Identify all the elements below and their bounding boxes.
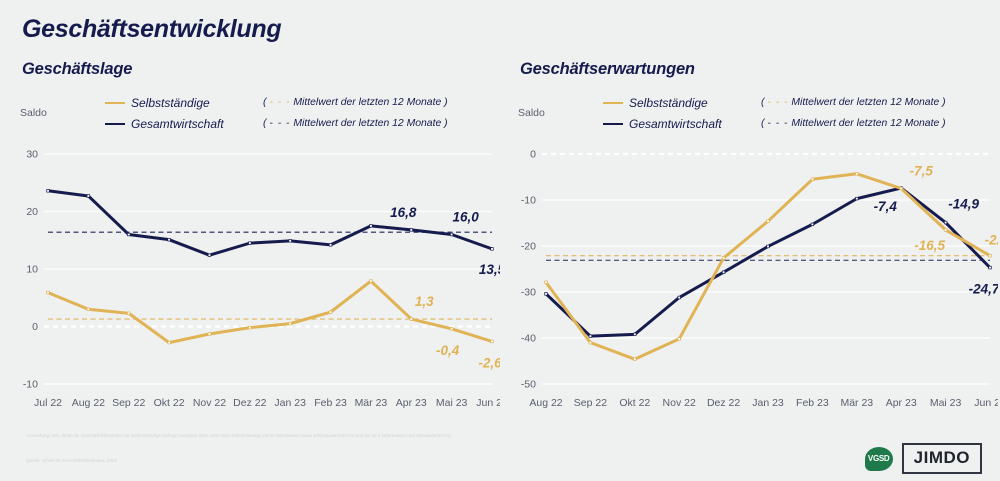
svg-text:-10: -10 (23, 379, 38, 391)
svg-text:-10: -10 (521, 195, 536, 207)
svg-text:Aug 22: Aug 22 (529, 397, 562, 409)
svg-text:Okt 22: Okt 22 (154, 397, 185, 409)
svg-text:-30: -30 (521, 287, 536, 299)
svg-text:Mai 23: Mai 23 (436, 397, 468, 409)
chart-panel-geschaeftserwartungen: Geschäftserwartungen Saldo Selbstständig… (498, 52, 998, 417)
svg-text:16,8: 16,8 (390, 205, 417, 220)
footnote-text: Anmerkung: Der Jimdo-ifo Geschäftsklimai… (26, 432, 546, 439)
svg-text:Dez 22: Dez 22 (707, 397, 740, 409)
svg-text:Jun 23: Jun 23 (974, 397, 998, 409)
svg-text:-14,9: -14,9 (948, 197, 979, 212)
svg-text:16,0: 16,0 (452, 210, 479, 225)
svg-text:Apr 23: Apr 23 (886, 397, 917, 409)
svg-text:Feb 23: Feb 23 (314, 397, 347, 409)
source-text: Quelle: Jimdo-ifo Geschäftsklimaindex, 2… (26, 458, 117, 463)
svg-text:Mär 23: Mär 23 (840, 397, 873, 409)
svg-text:Nov 22: Nov 22 (193, 397, 226, 409)
svg-text:Sep 22: Sep 22 (574, 397, 607, 409)
svg-text:-22,1: -22,1 (985, 233, 998, 248)
chart-panel-geschaeftslage: Geschäftslage Saldo Selbstständige ( - -… (0, 52, 500, 417)
svg-text:-2,6: -2,6 (478, 355, 500, 370)
svg-text:-50: -50 (521, 379, 536, 391)
svg-text:Sep 22: Sep 22 (112, 397, 145, 409)
svg-text:0: 0 (530, 149, 536, 161)
svg-text:-40: -40 (521, 333, 536, 345)
svg-text:0: 0 (32, 321, 38, 333)
svg-text:Mai 23: Mai 23 (930, 397, 962, 409)
svg-text:Jun 23: Jun 23 (476, 397, 500, 409)
vgsd-logo-icon: VGSD (865, 447, 893, 471)
svg-text:-7,5: -7,5 (910, 164, 934, 179)
svg-text:Jul 22: Jul 22 (34, 397, 62, 409)
svg-text:30: 30 (26, 149, 38, 161)
svg-text:20: 20 (26, 206, 38, 218)
svg-text:1,3: 1,3 (415, 294, 434, 309)
svg-text:-16,5: -16,5 (914, 238, 945, 253)
svg-text:Nov 22: Nov 22 (663, 397, 696, 409)
svg-text:13,5: 13,5 (479, 262, 500, 277)
jimdo-logo: JIMDO (902, 443, 982, 474)
svg-text:-20: -20 (521, 241, 536, 253)
svg-text:Mär 23: Mär 23 (355, 397, 388, 409)
svg-text:Feb 23: Feb 23 (796, 397, 829, 409)
svg-text:-7,4: -7,4 (874, 199, 898, 214)
svg-text:10: 10 (26, 264, 38, 276)
svg-text:Apr 23: Apr 23 (396, 397, 427, 409)
svg-text:Aug 22: Aug 22 (72, 397, 105, 409)
jimdo-logo-text: JIMDO (914, 448, 970, 467)
svg-text:-24,7: -24,7 (969, 282, 998, 297)
svg-text:Jan 23: Jan 23 (752, 397, 784, 409)
page-title: Geschäftsentwicklung (22, 15, 281, 44)
svg-text:Jan 23: Jan 23 (274, 397, 306, 409)
svg-text:Dez 22: Dez 22 (233, 397, 266, 409)
plot-area-left: 3020100-10Jul 22Aug 22Sep 22Okt 22Nov 22… (0, 52, 500, 417)
plot-area-right: 0-10-20-30-40-50Aug 22Sep 22Okt 22Nov 22… (498, 52, 998, 417)
logo-group: VGSD JIMDO (865, 443, 982, 474)
vgsd-logo-text: VGSD (868, 454, 889, 463)
svg-text:Okt 22: Okt 22 (619, 397, 650, 409)
svg-text:-0,4: -0,4 (436, 343, 460, 358)
